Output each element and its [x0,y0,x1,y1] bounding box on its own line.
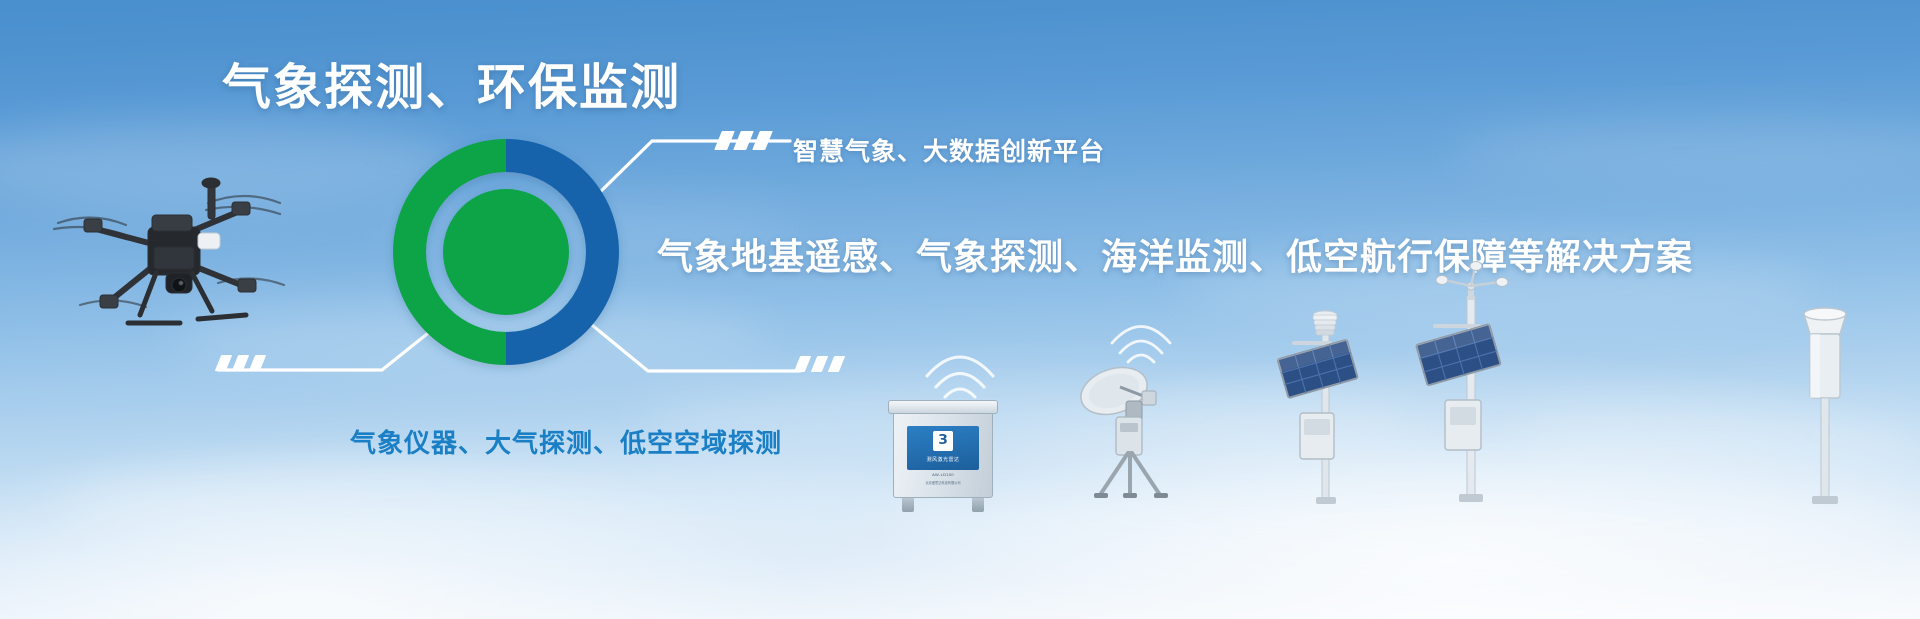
cloud-wisp [1520,400,1920,470]
wave-lidar [905,325,1015,405]
cabinet-foot [902,498,914,512]
callout-bottom-label: 气象仪器、大气探测、低空空域探测 [350,423,782,460]
dish-antenna-tripod [1070,355,1190,500]
callout-top-label: 智慧气象、大数据创新平台 [793,132,1105,168]
cabinet-lid [888,400,998,414]
device-model: AW-LD100 [907,472,979,477]
cloud-wisp [1450,120,1920,180]
slash-mark-left [218,355,263,371]
brand-mark: З [933,431,953,451]
main-solution-line: 气象地基遥感、气象探测、海洋监测、低空航行保障等解决方案 [657,228,1693,280]
ring-gap-overlay [393,139,619,365]
page-title: 气象探测、环保监测 [222,48,681,119]
banner-root: 气象探测、环保监测 智慧气象、大数据创新平台 气象地基遥感、气象探测、海洋监测、… [0,0,1920,619]
cloud-wisp [900,470,1900,570]
solar-weather-station-a [1272,305,1382,505]
device-footer: 北京爱思达科技有限公司 [907,480,979,485]
lidar-instrument-cabinet: З 测风激光雷达 AW-LD100 北京爱思达科技有限公司 [893,400,1003,512]
drone-illustration [40,155,300,345]
solar-weather-station-b [1405,278,1535,503]
cabinet-foot [972,498,984,512]
slash-mark-top [718,131,769,150]
slash-mark-right [797,356,842,372]
sensor-column-rain-gauge [1790,300,1860,505]
device-caption: 测风激光雷达 [907,456,979,463]
cloud-wisp [60,455,960,550]
